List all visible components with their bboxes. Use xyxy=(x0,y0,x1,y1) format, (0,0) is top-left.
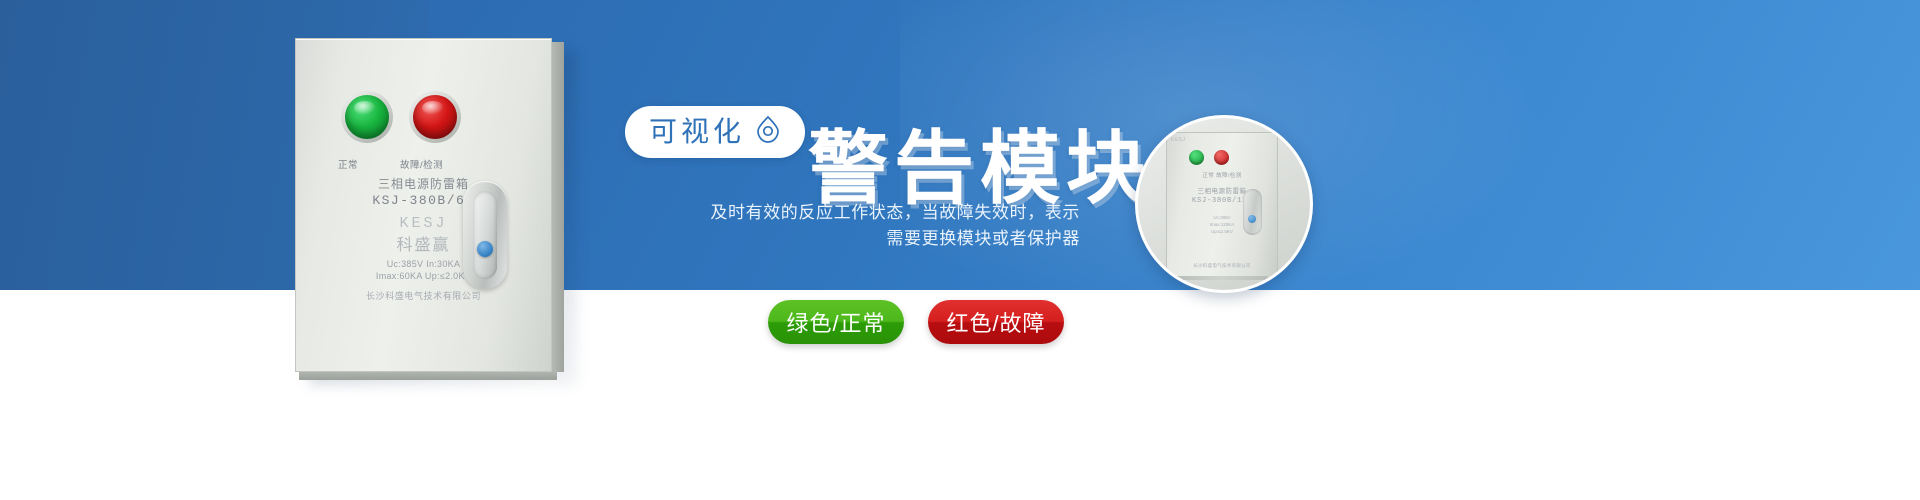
eye-diamond-icon xyxy=(755,115,781,150)
device-photo-main: 正常 故障/检测 三相电源防雷箱 KSJ-380B/60 KESJ 科盛赢 Uc… xyxy=(295,38,563,373)
device-brand-chinese: 科盛赢 xyxy=(296,231,551,255)
inset-lamp-labels: 正常 故障/检测 xyxy=(1167,171,1277,179)
status-badge-fault-label: 红色/故障 xyxy=(946,306,1045,338)
device-label-normal: 正常 xyxy=(338,157,358,171)
page-title: 警告模块 xyxy=(808,129,1152,209)
handle-slot xyxy=(473,191,497,279)
status-badge-normal-label: 绿色/正常 xyxy=(786,306,885,338)
promo-banner: 正常 故障/检测 三相电源防雷箱 KSJ-380B/60 KESJ 科盛赢 Uc… xyxy=(0,0,1920,500)
subtitle-line-2: 需要更换模块或者保护器 xyxy=(620,226,1080,252)
lamp-highlight xyxy=(354,101,376,115)
status-badge-fault: 红色/故障 xyxy=(928,300,1064,344)
device-spec-line-2: Imax:60KA Up:≤2.0KV xyxy=(296,271,551,281)
device-brand-latin: KESJ xyxy=(296,215,551,232)
indicator-lamp-red xyxy=(413,95,457,139)
device-model-number: KSJ-380B/60 xyxy=(296,193,551,208)
inset-enclosure-body: KESJ 正常 故障/检测 三相电源防雷箱 KSJ-380B/120 Uc:38… xyxy=(1166,132,1278,280)
status-badge-normal: 绿色/正常 xyxy=(768,300,904,344)
device-label-fault: 故障/检测 xyxy=(400,157,443,171)
device-right-edge xyxy=(550,42,564,372)
inset-indicator-lamp-red xyxy=(1214,150,1229,165)
subtitle-block: 及时有效的反应工作状态，当故障失效时，表示 需要更换模块或者保护器 xyxy=(620,200,1080,253)
lamp-highlight xyxy=(422,101,444,115)
device-door-handle xyxy=(463,181,507,289)
subtitle-line-1: 及时有效的反应工作状态，当故障失效时，表示 xyxy=(620,200,1080,226)
device-product-title: 三相电源防雷箱 xyxy=(296,175,551,192)
handle-lock-knob xyxy=(477,241,493,257)
inset-indicator-lamp-green xyxy=(1189,150,1204,165)
status-badge-group: 绿色/正常 红色/故障 xyxy=(768,300,1064,344)
device-enclosure-body: 正常 故障/检测 三相电源防雷箱 KSJ-380B/60 KESJ 科盛赢 Uc… xyxy=(295,38,552,372)
inset-mounting-feet xyxy=(1174,276,1268,280)
visualization-pill-badge: 可视化 xyxy=(625,106,805,158)
device-spec-line-1: Uc:385V In:30KA xyxy=(296,259,551,269)
inset-company-name: 长沙科盛电气技术有限公司 xyxy=(1167,263,1277,269)
indicator-lamp-green xyxy=(345,95,389,139)
inset-lock-knob xyxy=(1248,215,1256,223)
device-photo-inset-circle: KESJ 正常 故障/检测 三相电源防雷箱 KSJ-380B/120 Uc:38… xyxy=(1135,115,1313,293)
device-company-name: 长沙科盛电气技术有限公司 xyxy=(296,289,551,302)
inset-door-handle xyxy=(1243,189,1262,235)
inset-brand-tag: KESJ xyxy=(1171,137,1186,143)
pill-label: 可视化 xyxy=(649,118,745,146)
